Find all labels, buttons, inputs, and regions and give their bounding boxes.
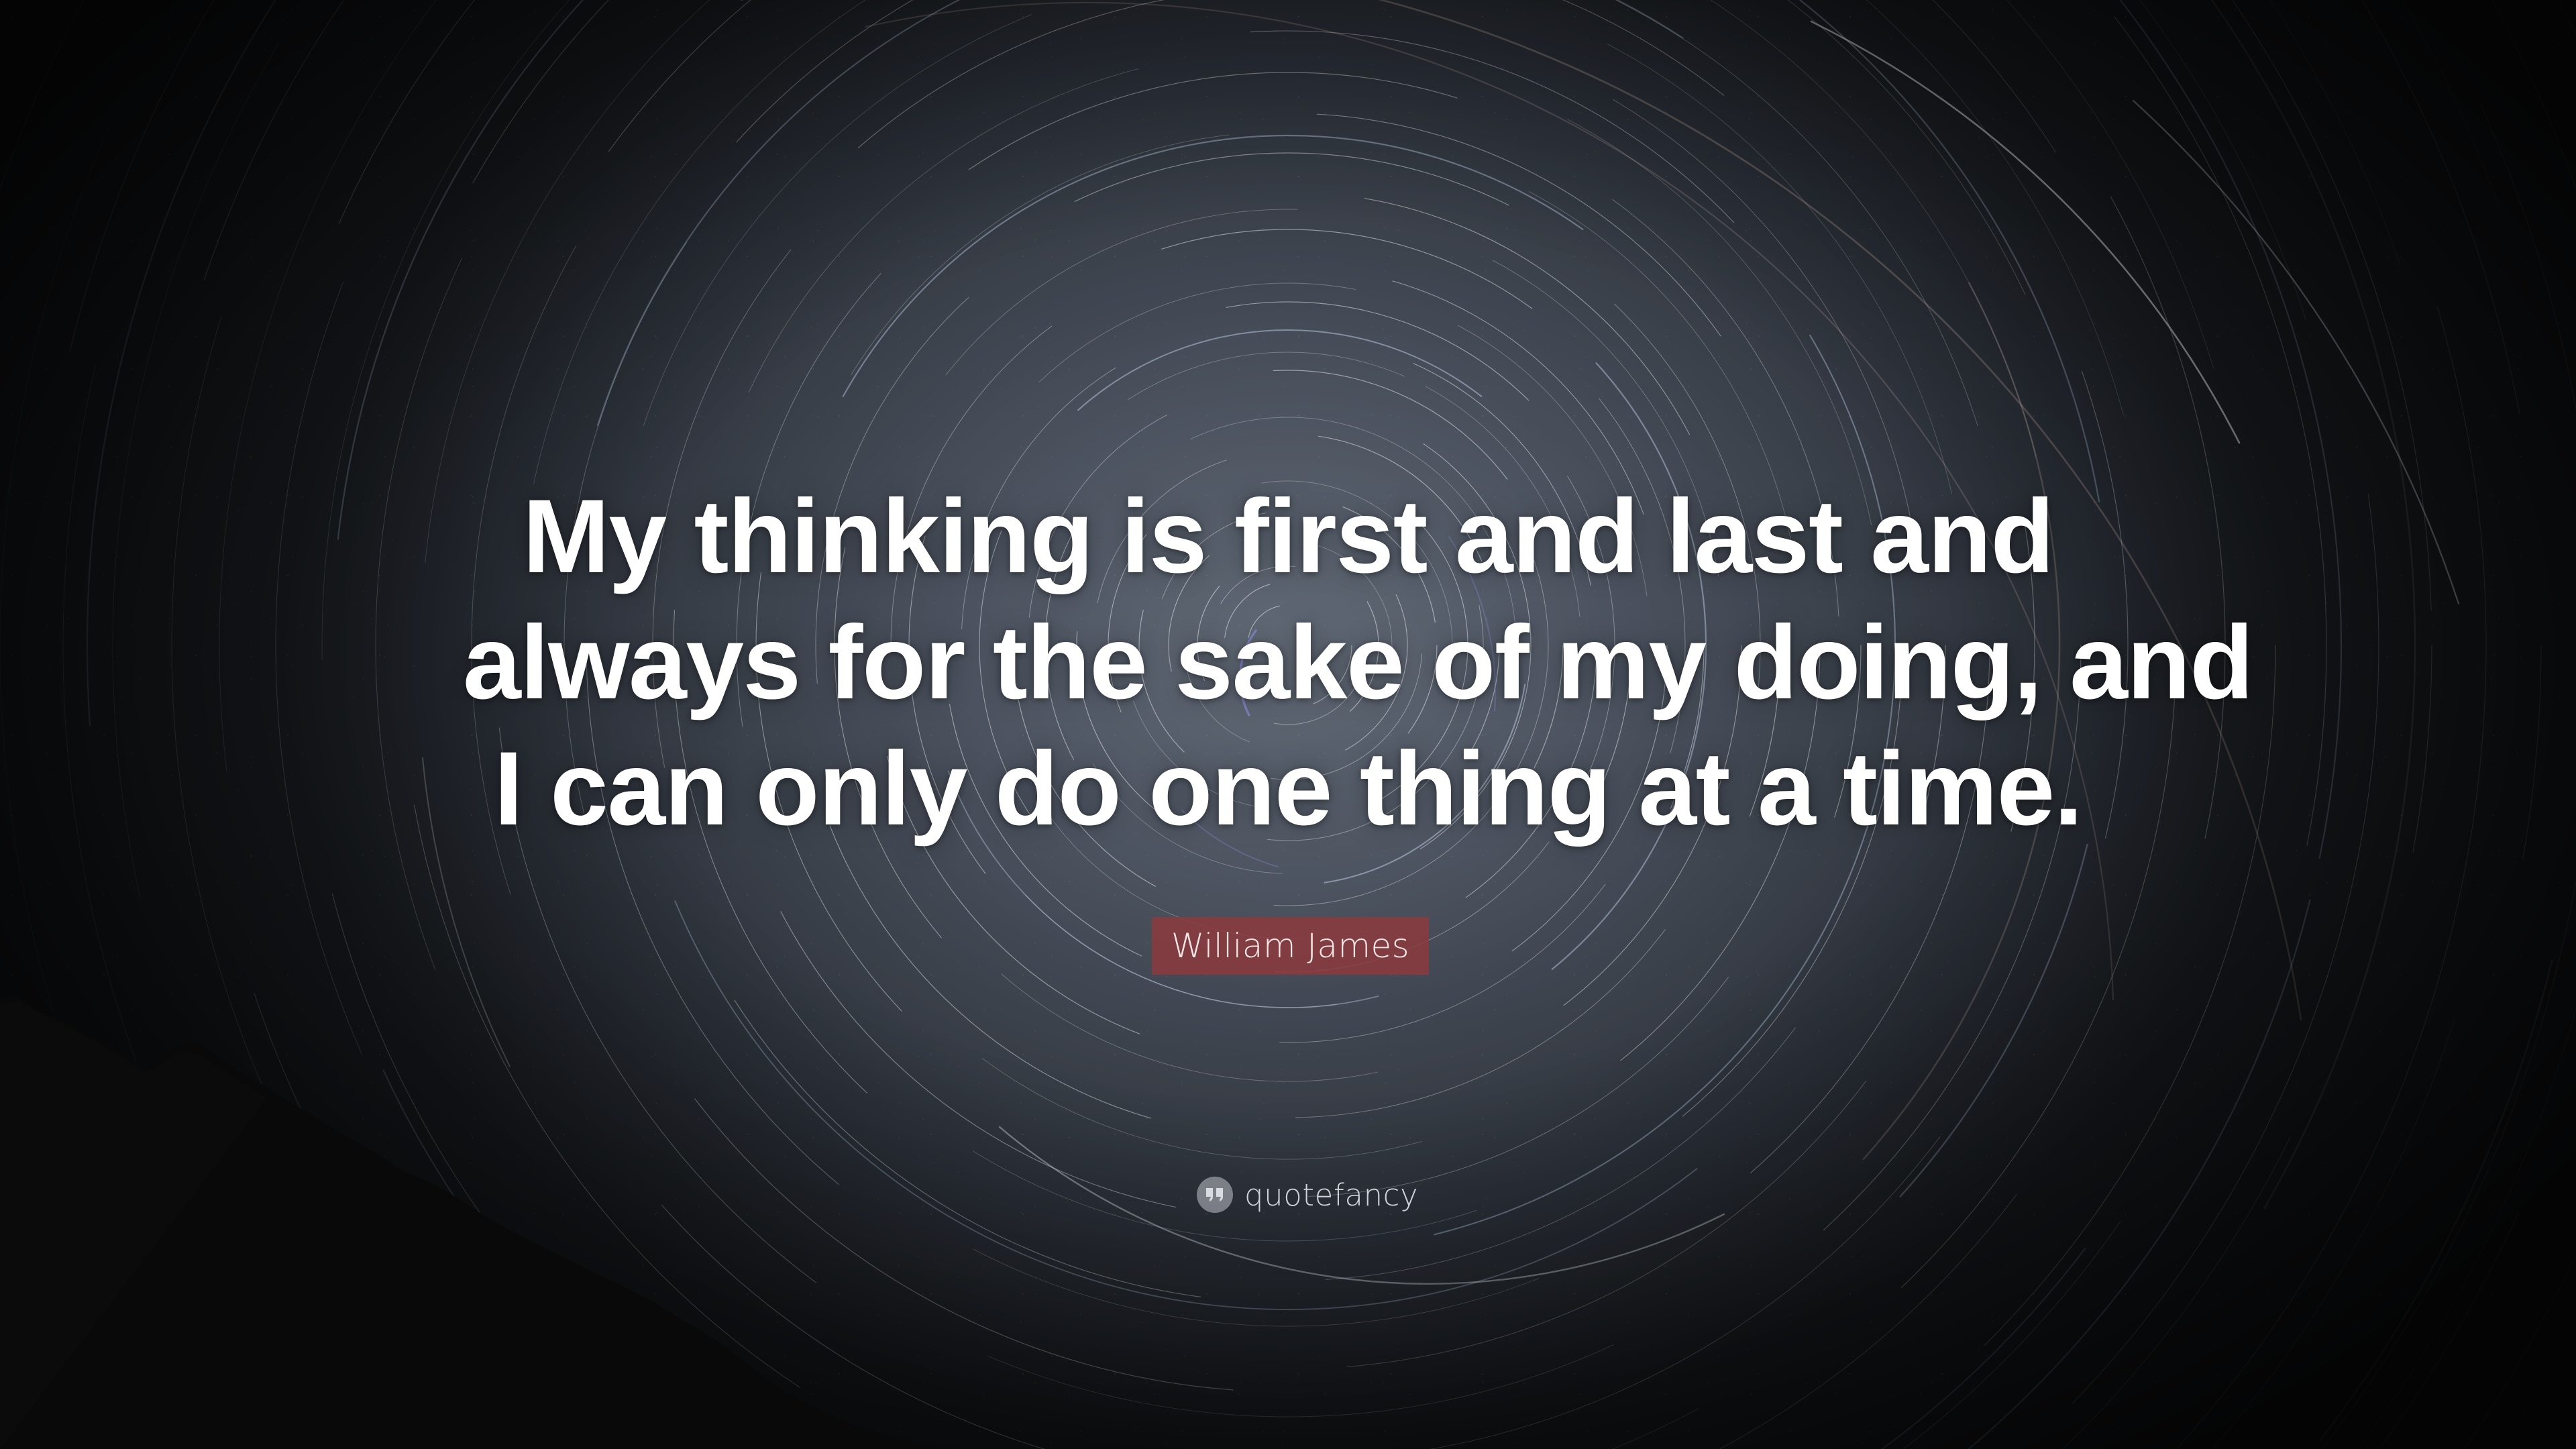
author-badge: William James xyxy=(1152,917,1429,975)
mountain-ridge-silhouette xyxy=(0,845,1046,1449)
quotefancy-logo: quotefancy xyxy=(1197,1176,1418,1214)
quote-mark-icon xyxy=(1197,1177,1233,1213)
quote-text-block: My thinking is first and last and always… xyxy=(463,474,2113,852)
author-name: William James xyxy=(1171,929,1409,963)
wallpaper-canvas: My thinking is first and last and always… xyxy=(0,0,2576,1449)
quotefancy-wordmark: quotefancy xyxy=(1244,1180,1418,1210)
quote-line-1: My thinking is first and last and xyxy=(463,474,2113,600)
quote-line-2: always for the sake of my doing, and xyxy=(463,600,2113,726)
quote-line-3: I can only do one thing at a time. xyxy=(463,726,2113,852)
